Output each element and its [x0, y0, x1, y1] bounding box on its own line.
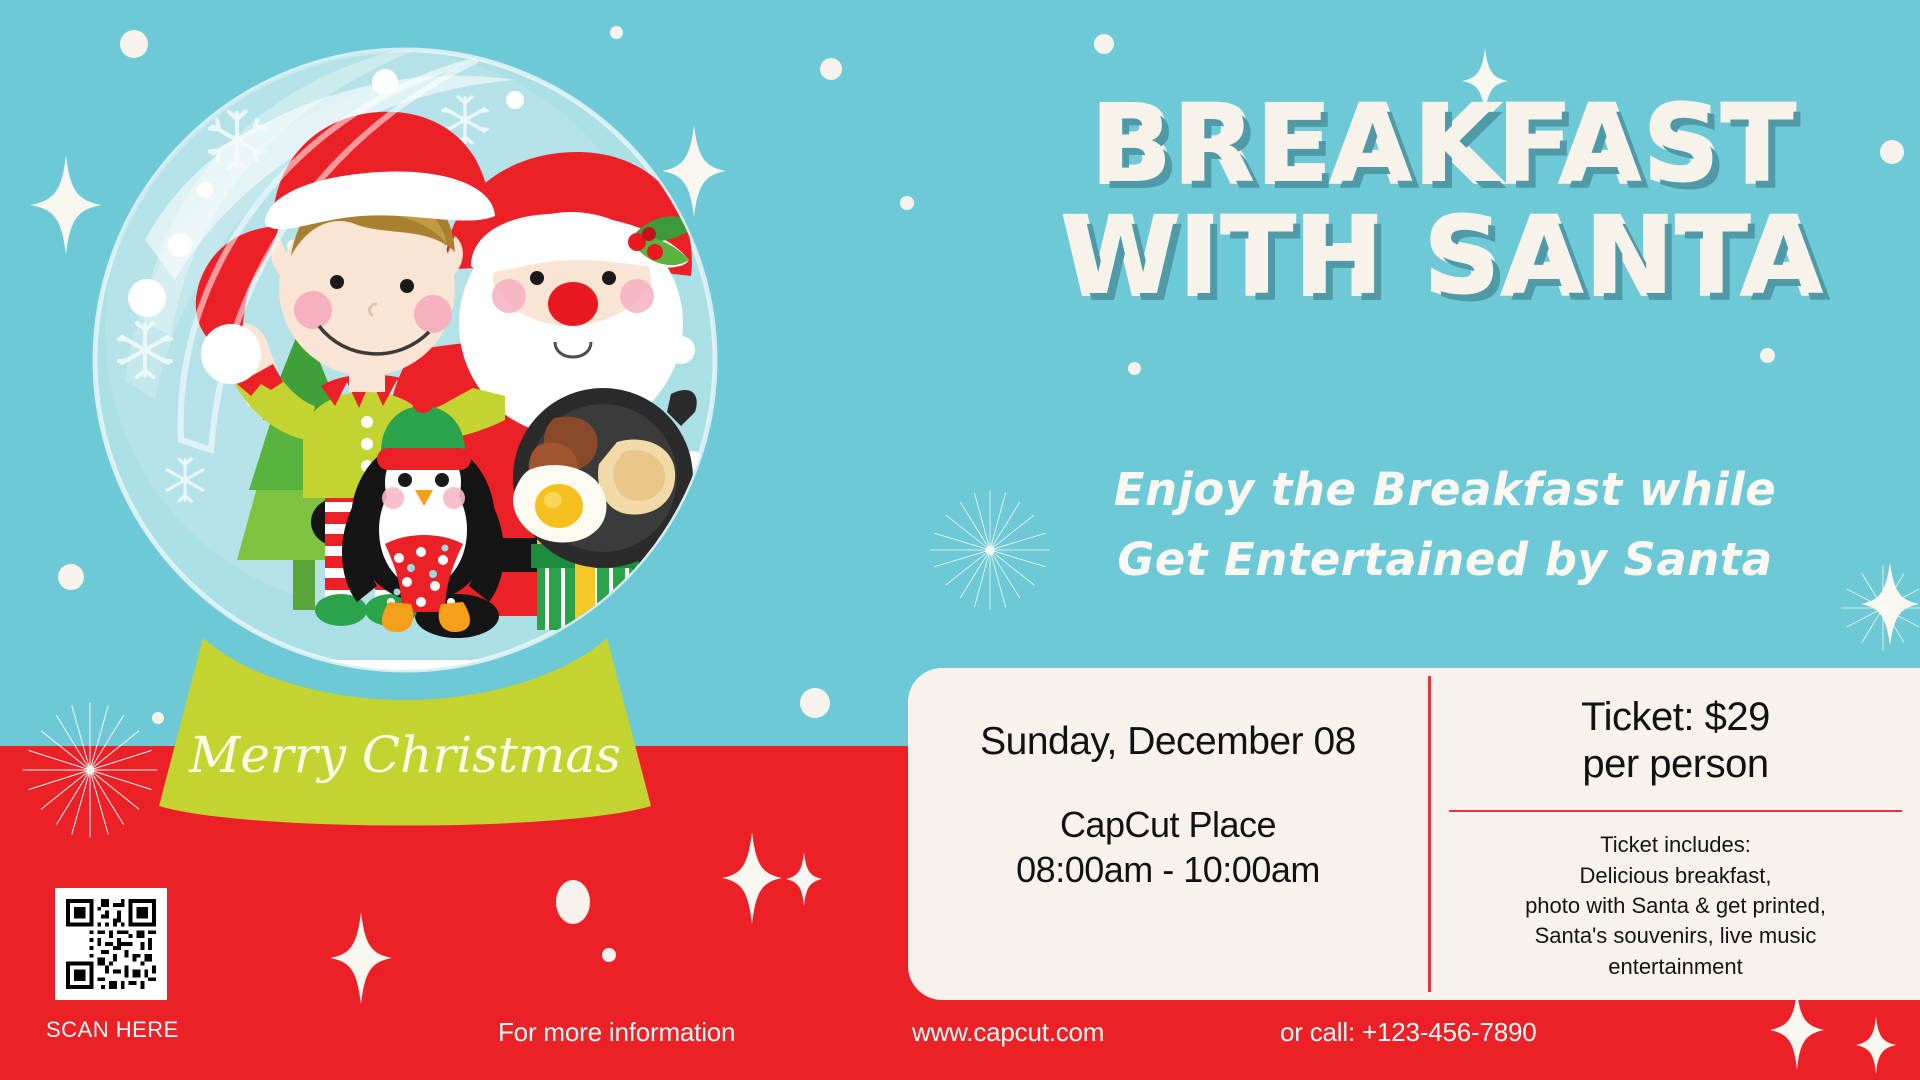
event-venue: CapCut Place 08:00am - 10:00am: [1016, 802, 1320, 892]
decor-dot: [820, 58, 842, 80]
decor-dot: [1128, 362, 1141, 375]
snow-globe-illustration: Merry Christmas: [85, 20, 725, 860]
decor-dot: [1880, 140, 1904, 164]
decor-dot: [1094, 34, 1114, 54]
scan-here-label: SCAN HERE: [46, 1017, 179, 1043]
decor-dot: [900, 196, 914, 210]
footer-phone[interactable]: or call: +123-456-7890: [1280, 1017, 1537, 1048]
qr-code[interactable]: [55, 888, 167, 1000]
page-subtitle: Enjoy the Breakfast while Get Entertaine…: [1000, 455, 1890, 595]
poster-canvas: Merry Christmas BREAKFAST WITH SANTA Enj…: [0, 0, 1920, 1080]
decor-dot: [602, 948, 616, 962]
sparkle-icon: [330, 912, 392, 1004]
decor-dot: [1760, 348, 1775, 363]
venue-name: CapCut Place: [1016, 802, 1320, 847]
footer-more-information: For more information: [498, 1017, 735, 1048]
includes-line: entertainment: [1525, 952, 1826, 982]
page-title: BREAKFAST WITH SANTA: [1010, 95, 1880, 309]
ticket-includes: Ticket includes: Delicious breakfast, ph…: [1525, 830, 1826, 982]
subtitle-line-2: Get Entertained by Santa: [1000, 525, 1890, 595]
event-info-card: Sunday, December 08 CapCut Place 08:00am…: [908, 668, 1920, 1000]
title-line-2: WITH SANTA: [1010, 207, 1880, 309]
includes-line: Delicious breakfast,: [1525, 861, 1826, 891]
includes-line: photo with Santa & get printed,: [1525, 891, 1826, 921]
ticket-panel: Ticket: $29 per person Ticket includes: …: [1431, 668, 1920, 1000]
decor-dot: [556, 880, 590, 924]
ticket-price-line-1: Ticket: $29: [1581, 694, 1770, 741]
ticket-horizontal-divider: [1449, 810, 1902, 812]
includes-line: Santa's souvenirs, live music: [1525, 921, 1826, 951]
event-details-panel: Sunday, December 08 CapCut Place 08:00am…: [908, 668, 1428, 1000]
sparkle-icon: [1770, 990, 1824, 1070]
decor-dot: [58, 564, 84, 590]
subtitle-line-1: Enjoy the Breakfast while: [1000, 455, 1890, 525]
includes-heading: Ticket includes:: [1525, 830, 1826, 860]
title-line-1: BREAKFAST: [1010, 95, 1880, 197]
footer-website[interactable]: www.capcut.com: [912, 1017, 1104, 1048]
sparkle-icon: [722, 832, 782, 924]
event-date: Sunday, December 08: [980, 720, 1356, 764]
ticket-price: Ticket: $29 per person: [1581, 694, 1770, 788]
ticket-price-line-2: per person: [1581, 741, 1770, 788]
sparkle-icon: [1856, 1016, 1896, 1074]
sparkle-icon: [786, 852, 822, 906]
event-time: 08:00am - 10:00am: [1016, 847, 1320, 892]
globe-base-label: Merry Christmas: [188, 726, 621, 784]
decor-dot: [800, 688, 830, 718]
